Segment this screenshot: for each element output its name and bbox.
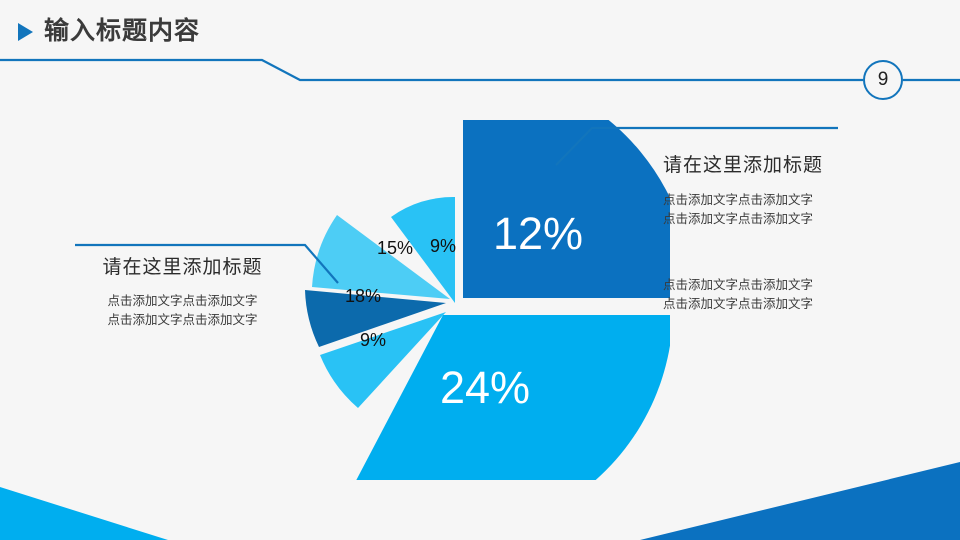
right-text-block: 请在这里添加标题 点击添加文字点击添加文字 点击添加文字点击添加文字 bbox=[663, 150, 823, 230]
left-block-title: 请在这里添加标题 bbox=[85, 252, 280, 279]
left-paragraph-1-line-1: 点击添加文字点击添加文字 bbox=[85, 292, 280, 311]
right-paragraph-2: 点击添加文字点击添加文字 点击添加文字点击添加文字 bbox=[663, 276, 813, 315]
left-text-block: 请在这里添加标题 点击添加文字点击添加文字 点击添加文字点击添加文字 bbox=[85, 252, 280, 331]
slide-header: 输入标题内容 9 bbox=[0, 0, 960, 110]
left-paragraph-1-line-2: 点击添加文字点击添加文字 bbox=[85, 311, 280, 330]
right-paragraph-1-line-2: 点击添加文字点击添加文字 bbox=[663, 210, 823, 229]
right-paragraph-2-line-1: 点击添加文字点击添加文字 bbox=[663, 276, 813, 295]
pie-chart bbox=[250, 120, 670, 480]
right-paragraph-1: 点击添加文字点击添加文字 点击添加文字点击添加文字 bbox=[663, 191, 823, 230]
play-triangle-icon bbox=[18, 23, 33, 41]
right-paragraph-2-line-2: 点击添加文字点击添加文字 bbox=[663, 295, 813, 314]
footer-triangle-left bbox=[0, 487, 168, 540]
footer-decoration bbox=[0, 440, 960, 540]
page-title-row: 输入标题内容 bbox=[18, 19, 200, 44]
page-number-badge: 9 bbox=[863, 60, 903, 100]
right-block-title: 请在这里添加标题 bbox=[663, 150, 823, 177]
left-paragraph-1: 点击添加文字点击添加文字 点击添加文字点击添加文字 bbox=[85, 292, 280, 331]
right-paragraph-1-line-1: 点击添加文字点击添加文字 bbox=[663, 191, 823, 210]
footer-triangle-right bbox=[640, 462, 960, 540]
slide-canvas: 输入标题内容 9 12% 24% 18% 15% 9 bbox=[0, 0, 960, 540]
page-title: 输入标题内容 bbox=[44, 19, 200, 44]
pie-slice-12[interactable] bbox=[463, 120, 670, 298]
